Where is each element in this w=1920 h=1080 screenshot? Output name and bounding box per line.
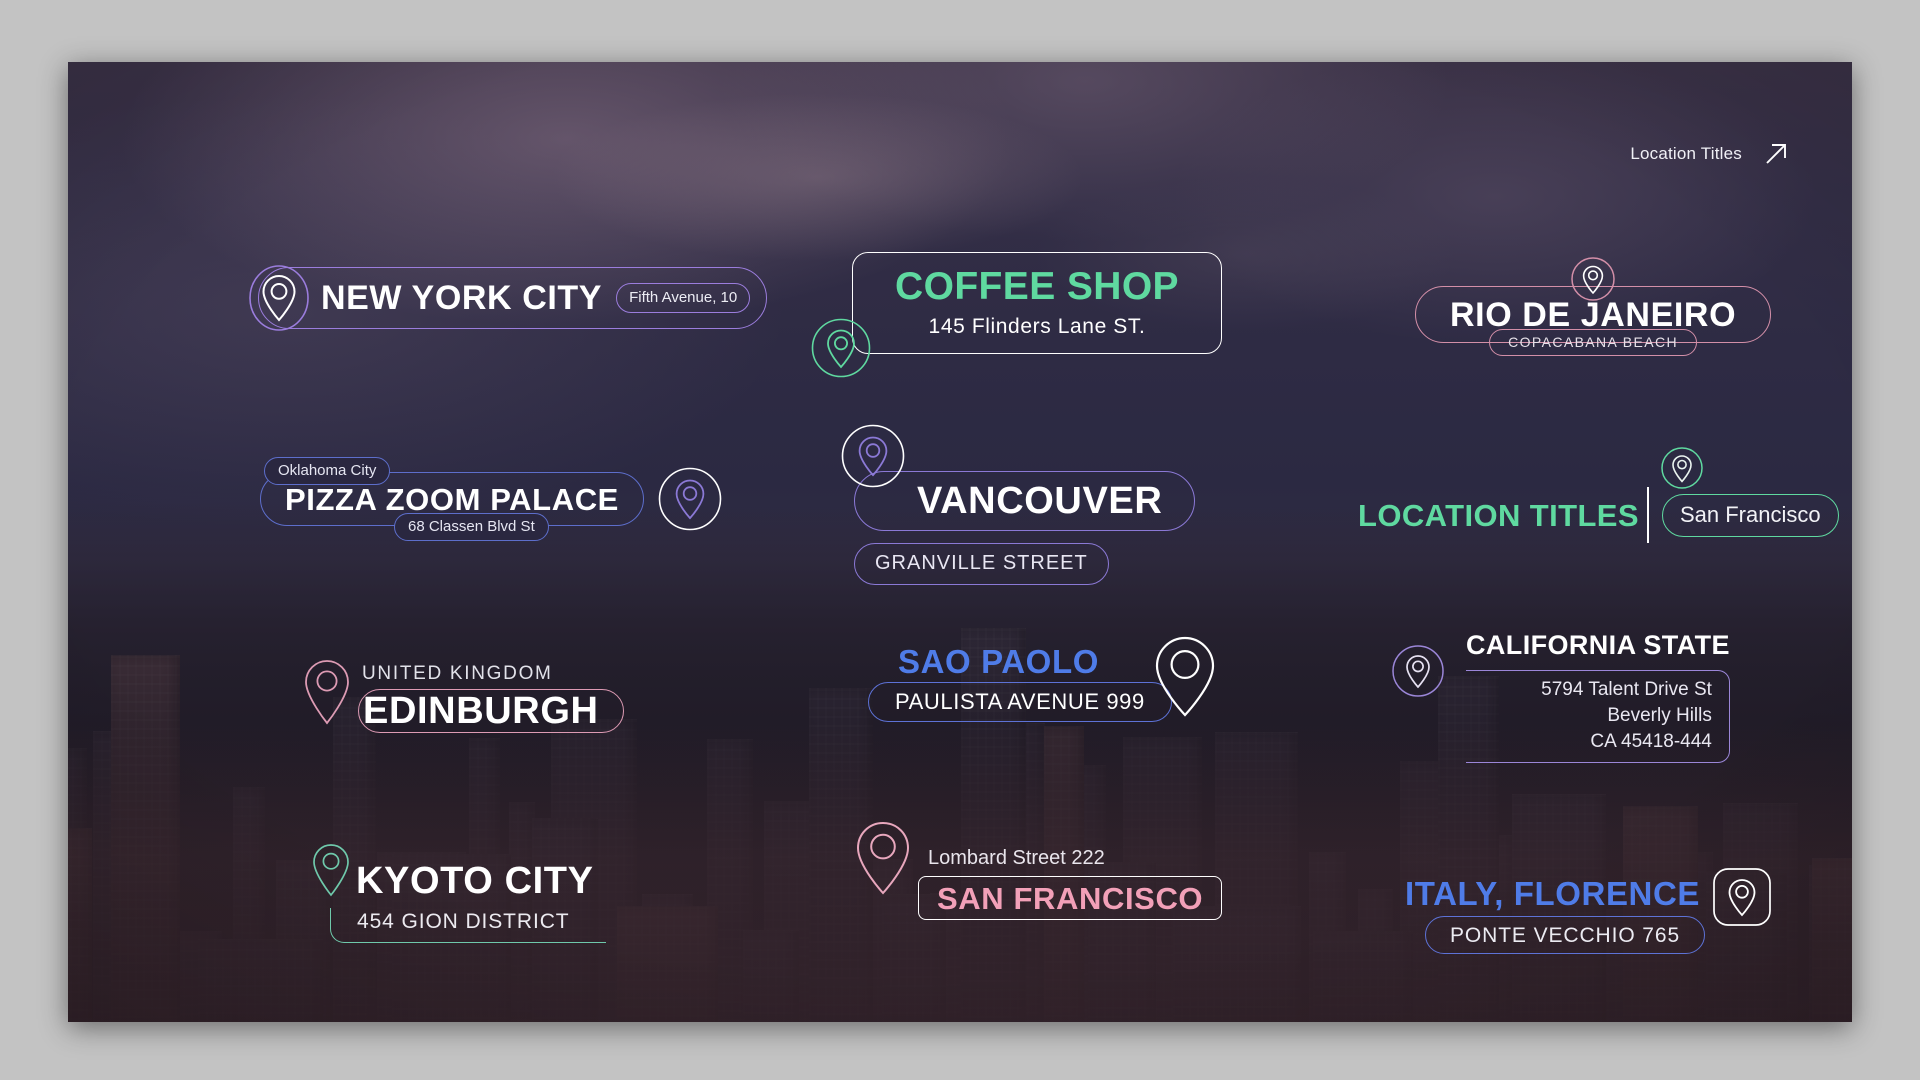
- location-title-location-titles[interactable]: LOCATION TITLES San Francisco: [1358, 487, 1839, 543]
- location-title-sao-paolo[interactable]: SAO PAOLO PAULISTA AVENUE 999: [868, 645, 1172, 722]
- location-pin-icon: [311, 842, 351, 898]
- san-francisco-kicker: Lombard Street 222: [918, 847, 1222, 870]
- arrow-up-right-icon[interactable]: [1762, 140, 1790, 168]
- rio-title: RIO DE JANEIRO: [1450, 298, 1736, 332]
- location-titles-title: LOCATION TITLES: [1358, 500, 1639, 531]
- nyc-title: NEW YORK CITY: [321, 281, 602, 315]
- building: [1173, 906, 1302, 1022]
- vancouver-title: VANCOUVER: [917, 482, 1162, 520]
- nyc-address-tag: Fifth Avenue, 10: [616, 283, 750, 313]
- building: [1812, 858, 1852, 1022]
- building: [617, 906, 718, 1022]
- location-title-vancouver[interactable]: VANCOUVER GRANVILLE STREET: [854, 471, 1195, 531]
- location-title-california-state[interactable]: CALIFORNIA STATE 5794 Talent Drive St Be…: [1466, 632, 1730, 763]
- california-address-block: 5794 Talent Drive St Beverly Hills CA 45…: [1466, 670, 1730, 763]
- pizza-title: PIZZA ZOOM PALACE: [285, 484, 619, 515]
- vertical-divider: [1647, 487, 1649, 543]
- rio-beach-tag: COPACABANA BEACH: [1489, 329, 1697, 356]
- location-title-coffee-shop[interactable]: COFFEE SHOP 145 Flinders Lane ST.: [852, 252, 1222, 354]
- italy-florence-frame: PONTE VECCHIO 765: [1425, 916, 1705, 954]
- coffee-subtitle: 145 Flinders Lane ST.: [929, 316, 1146, 337]
- kyoto-title: KYOTO CITY: [348, 862, 606, 900]
- san-francisco-title: SAN FRANCISCO: [937, 883, 1203, 914]
- header-title: Location Titles: [1630, 144, 1742, 164]
- edinburgh-frame: EDINBURGH: [358, 689, 624, 733]
- vancouver-frame: VANCOUVER: [854, 471, 1195, 531]
- location-title-new-york-city[interactable]: NEW YORK CITY Fifth Avenue, 10: [258, 267, 767, 329]
- building: [198, 939, 323, 1022]
- location-pin-icon: [1713, 868, 1771, 926]
- location-pin-icon: [1661, 447, 1703, 489]
- location-pin-icon: [246, 264, 312, 332]
- kyoto-district-bracket: 454 GION DISTRICT: [330, 908, 606, 943]
- sao-paolo-title: SAO PAOLO: [868, 645, 1172, 678]
- california-address-line-1: 5794 Talent Drive St: [1466, 677, 1712, 703]
- location-title-san-francisco[interactable]: Lombard Street 222 SAN FRANCISCO: [918, 847, 1222, 920]
- location-title-italy-florence[interactable]: ITALY, FLORENCE PONTE VECCHIO 765: [1405, 877, 1705, 954]
- italy-florence-title: ITALY, FLORENCE: [1405, 877, 1705, 910]
- nyc-frame: NEW YORK CITY Fifth Avenue, 10: [258, 267, 767, 329]
- vancouver-street-tag: GRANVILLE STREET: [854, 543, 1109, 585]
- location-titles-row: LOCATION TITLES San Francisco: [1358, 487, 1839, 543]
- video-preview-stage: Location Titles NEW YORK CITY Fifth Aven…: [68, 62, 1852, 1022]
- location-titles-city-tag: San Francisco: [1662, 494, 1839, 537]
- pizza-city-tag: Oklahoma City: [264, 457, 390, 485]
- location-pin-icon: [811, 318, 871, 378]
- italy-florence-subtitle: PONTE VECCHIO 765: [1450, 925, 1680, 946]
- page-root: Location Titles NEW YORK CITY Fifth Aven…: [0, 0, 1920, 1080]
- building: [68, 828, 92, 1022]
- coffee-frame: COFFEE SHOP 145 Flinders Lane ST.: [852, 252, 1222, 354]
- california-address-line-2: Beverly Hills: [1466, 703, 1712, 729]
- location-pin-icon: [841, 424, 905, 488]
- location-pin-icon: [1154, 635, 1216, 719]
- pizza-address-tag: 68 Classen Blvd St: [394, 513, 549, 541]
- sao-paolo-frame: PAULISTA AVENUE 999: [868, 682, 1172, 722]
- building: [1313, 931, 1413, 1022]
- location-title-pizza-zoom-palace[interactable]: Oklahoma City PIZZA ZOOM PALACE 68 Class…: [260, 472, 644, 526]
- edinburgh-kicker: UNITED KINGDOM: [358, 663, 624, 685]
- building: [743, 930, 798, 1022]
- san-francisco-frame: SAN FRANCISCO: [918, 876, 1222, 920]
- location-pin-icon: [658, 467, 722, 531]
- location-pin-icon: [301, 657, 353, 727]
- location-title-kyoto-city[interactable]: KYOTO CITY 454 GION DISTRICT: [348, 862, 606, 943]
- california-title: CALIFORNIA STATE: [1466, 632, 1730, 659]
- coffee-title: COFFEE SHOP: [895, 267, 1179, 306]
- header-bar: Location Titles: [1630, 140, 1790, 168]
- sao-paolo-subtitle: PAULISTA AVENUE 999: [895, 691, 1145, 713]
- edinburgh-title: EDINBURGH: [363, 692, 599, 730]
- location-title-edinburgh[interactable]: UNITED KINGDOM EDINBURGH: [358, 663, 624, 733]
- kyoto-subtitle: 454 GION DISTRICT: [357, 910, 570, 933]
- location-pin-icon: [1392, 645, 1444, 697]
- location-title-rio-de-janeiro[interactable]: RIO DE JANEIRO COPACABANA BEACH: [1415, 286, 1771, 343]
- building: [111, 655, 180, 1022]
- california-address-line-3: CA 45418-444: [1466, 729, 1712, 755]
- location-pin-icon: [1571, 257, 1615, 301]
- location-pin-icon: [855, 820, 911, 898]
